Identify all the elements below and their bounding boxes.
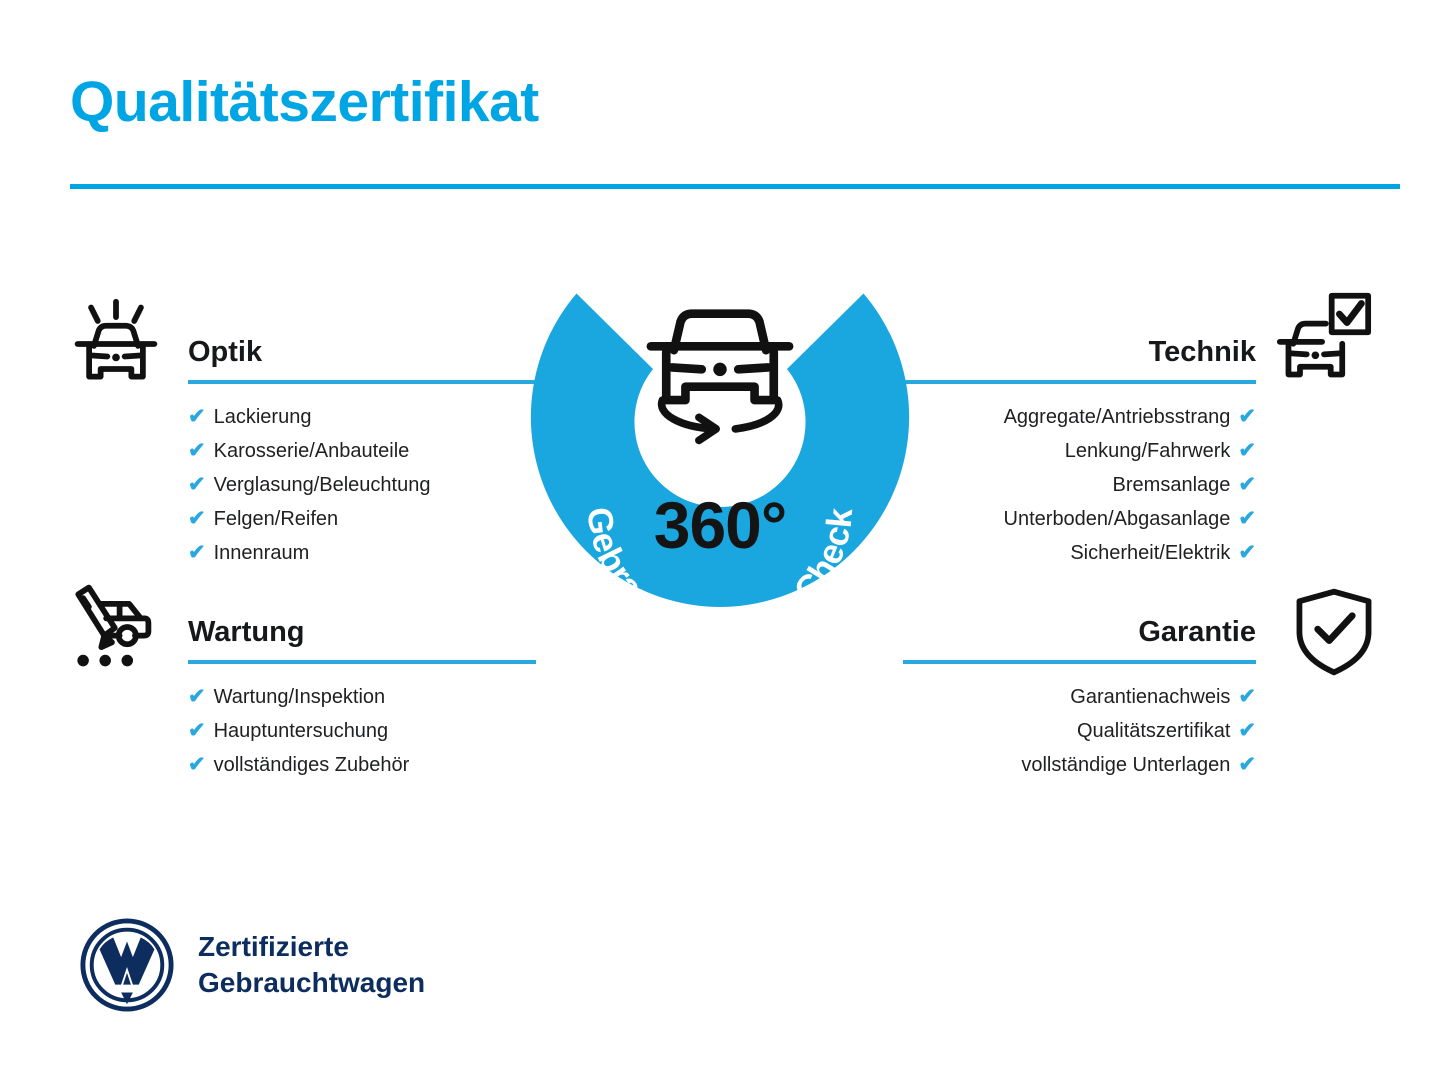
list-item-label: vollständiges Zubehör <box>214 748 410 782</box>
title-divider <box>70 184 1400 189</box>
list-item-label: Karosserie/Anbauteile <box>214 434 410 468</box>
section-optik-divider <box>188 380 536 384</box>
list-item: Aggregate/Antriebsstrang✔ <box>903 400 1256 434</box>
list-item-label: Sicherheit/Elektrik <box>1070 536 1230 570</box>
footer-logo: Zertifizierte Gebrauchtwagen <box>78 916 425 1014</box>
section-technik-title: Technik <box>903 332 1256 372</box>
page-title: Qualitätszertifikat <box>70 74 539 131</box>
check-icon: ✔ <box>1238 468 1256 502</box>
car-rotate-360-icon <box>651 314 789 441</box>
section-optik-title: Optik <box>188 332 536 372</box>
section-optik: Optik ✔Lackierung ✔Karosserie/Anbauteile… <box>188 332 536 570</box>
list-item: ✔Innenraum <box>188 536 536 570</box>
check-icon: ✔ <box>188 536 206 570</box>
volkswagen-logo-icon <box>78 916 176 1014</box>
section-wartung-header: Wartung <box>188 612 536 664</box>
check-icon: ✔ <box>188 502 206 536</box>
section-wartung: Wartung ✔Wartung/Inspektion ✔Hauptunters… <box>188 612 536 782</box>
list-item: Sicherheit/Elektrik✔ <box>903 536 1256 570</box>
list-item: ✔vollständiges Zubehör <box>188 748 536 782</box>
check-icon: ✔ <box>1238 714 1256 748</box>
badge-360-check: Gebrauchtwagen-Check 360° <box>520 282 920 702</box>
list-item-label: Verglasung/Beleuchtung <box>214 468 431 502</box>
list-item-label: Unterboden/Abgasanlage <box>1004 502 1231 536</box>
section-wartung-divider <box>188 660 536 664</box>
list-item: ✔Karosserie/Anbauteile <box>188 434 536 468</box>
list-item-label: Garantienachweis <box>1070 680 1230 714</box>
list-item: ✔Verglasung/Beleuchtung <box>188 468 536 502</box>
check-icon: ✔ <box>1238 502 1256 536</box>
list-item-label: Aggregate/Antriebsstrang <box>1004 400 1231 434</box>
section-technik-header: Technik <box>903 332 1256 384</box>
list-item-label: Lenkung/Fahrwerk <box>1065 434 1231 468</box>
check-icon: ✔ <box>1238 536 1256 570</box>
list-item: Unterboden/Abgasanlage✔ <box>903 502 1256 536</box>
check-icon: ✔ <box>188 400 206 434</box>
section-garantie: Garantie Garantienachweis✔ Qualitätszert… <box>903 612 1256 782</box>
car-service-pencil-icon <box>62 578 158 674</box>
list-item-label: Innenraum <box>214 536 310 570</box>
section-garantie-divider <box>903 660 1256 664</box>
list-item-label: Felgen/Reifen <box>214 502 339 536</box>
section-optik-header: Optik <box>188 332 536 384</box>
check-icon: ✔ <box>188 714 206 748</box>
section-wartung-items: ✔Wartung/Inspektion ✔Hauptuntersuchung ✔… <box>188 680 536 782</box>
list-item: Lenkung/Fahrwerk✔ <box>903 434 1256 468</box>
footer-logo-text: Zertifizierte Gebrauchtwagen <box>198 929 425 1001</box>
badge-value: 360° <box>520 487 920 563</box>
list-item-label: Wartung/Inspektion <box>214 680 386 714</box>
section-technik-divider <box>903 380 1256 384</box>
car-front-checkbox-icon <box>1276 290 1372 386</box>
section-optik-items: ✔Lackierung ✔Karosserie/Anbauteile ✔Verg… <box>188 400 536 570</box>
section-technik: Technik Aggregate/Antriebsstrang✔ Lenkun… <box>903 332 1256 570</box>
list-item-label: Qualitätszertifikat <box>1077 714 1230 748</box>
list-item: Bremsanlage✔ <box>903 468 1256 502</box>
check-icon: ✔ <box>1238 748 1256 782</box>
list-item: vollständige Unterlagen✔ <box>903 748 1256 782</box>
section-garantie-title: Garantie <box>903 612 1256 652</box>
check-icon: ✔ <box>1238 434 1256 468</box>
list-item-label: Lackierung <box>214 400 312 434</box>
list-item: ✔Hauptuntersuchung <box>188 714 536 748</box>
check-icon: ✔ <box>188 748 206 782</box>
section-garantie-header: Garantie <box>903 612 1256 664</box>
list-item: Garantienachweis✔ <box>903 680 1256 714</box>
section-wartung-title: Wartung <box>188 612 536 652</box>
section-garantie-items: Garantienachweis✔ Qualitätszertifikat✔ v… <box>903 680 1256 782</box>
check-icon: ✔ <box>1238 680 1256 714</box>
list-item: ✔Wartung/Inspektion <box>188 680 536 714</box>
shield-check-icon <box>1286 584 1382 680</box>
list-item-label: Hauptuntersuchung <box>214 714 389 748</box>
list-item-label: vollständige Unterlagen <box>1021 748 1230 782</box>
list-item: ✔Felgen/Reifen <box>188 502 536 536</box>
check-icon: ✔ <box>188 434 206 468</box>
section-technik-items: Aggregate/Antriebsstrang✔ Lenkung/Fahrwe… <box>903 400 1256 570</box>
list-item: ✔Lackierung <box>188 400 536 434</box>
check-icon: ✔ <box>188 680 206 714</box>
check-icon: ✔ <box>1238 400 1256 434</box>
car-front-shine-icon <box>68 296 164 392</box>
check-icon: ✔ <box>188 468 206 502</box>
list-item: Qualitätszertifikat✔ <box>903 714 1256 748</box>
list-item-label: Bremsanlage <box>1113 468 1231 502</box>
